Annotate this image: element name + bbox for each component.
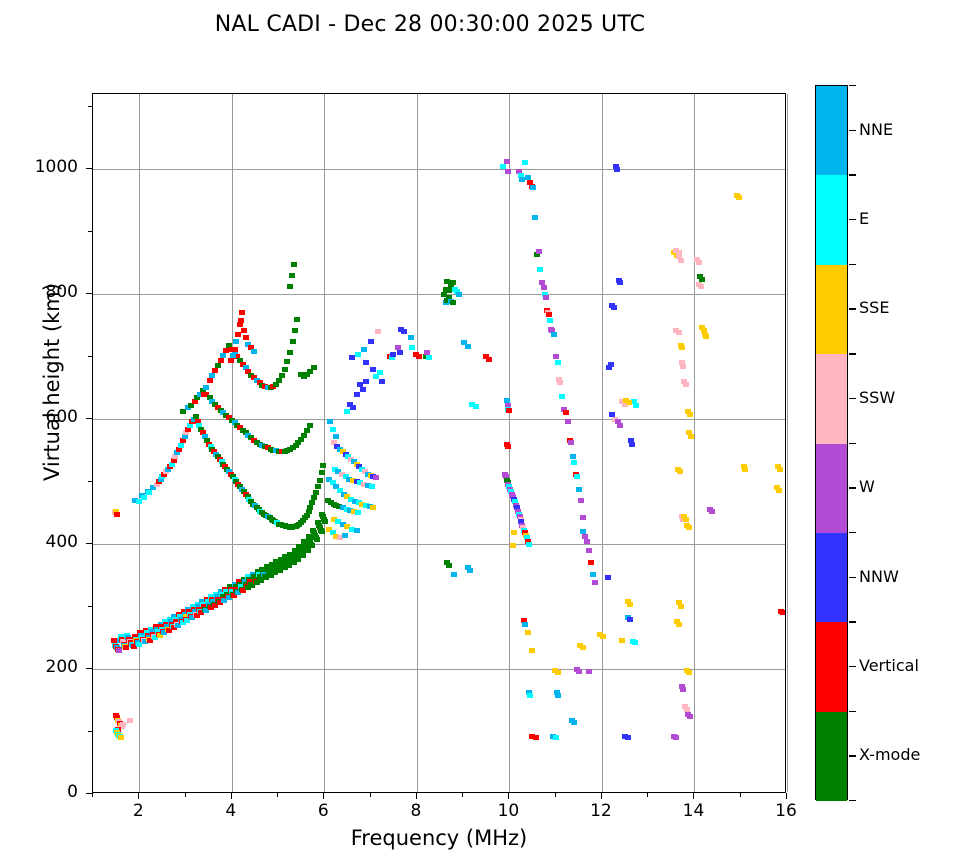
colorbar-boundary-tick (849, 711, 856, 712)
scatter-point (354, 392, 360, 397)
scatter-point (698, 284, 704, 289)
scatter-point (401, 329, 407, 334)
y-tick (86, 418, 92, 419)
scatter-point (687, 714, 693, 719)
scatter-point (537, 267, 543, 272)
colorbar-segment-x-mode (816, 712, 847, 801)
scatter-point (625, 735, 631, 740)
y-tick (86, 293, 92, 294)
scatter-point (344, 409, 350, 414)
colorbar-boundary-tick (849, 174, 856, 175)
scatter-point (456, 292, 462, 297)
colorbar-boundary-tick (849, 85, 856, 86)
scatter-point (565, 419, 571, 424)
scatter-point (532, 215, 538, 220)
scatter-point (228, 358, 234, 363)
scatter-point (390, 352, 396, 357)
scatter-point (600, 634, 606, 639)
scatter-point (314, 537, 320, 542)
scatter-point (201, 392, 207, 397)
scatter-point (555, 693, 561, 698)
colorbar-segment-vertical (816, 622, 847, 711)
scatter-point (220, 353, 226, 358)
ionogram-page: NAL CADI - Dec 28 00:30:00 2025 UTC 2468… (0, 0, 958, 857)
scatter-point (506, 408, 512, 413)
scatter-point (279, 373, 285, 378)
scatter-point (505, 169, 511, 174)
scatter-point (776, 488, 782, 493)
scatter-point (473, 404, 479, 409)
scatter-point (369, 484, 375, 489)
scatter-point (443, 287, 449, 292)
y-tick-label: 0 (0, 782, 78, 802)
scatter-point (696, 260, 702, 265)
scatter-point (686, 670, 692, 675)
scatter-point (307, 423, 313, 428)
scatter-point (363, 360, 369, 365)
scatter-point (511, 530, 517, 535)
colorbar-tick (849, 666, 856, 667)
scatter-point (239, 310, 245, 315)
scatter-point (557, 380, 563, 385)
scatter-point (486, 357, 492, 362)
x-tick (693, 793, 694, 799)
scatter-point (235, 332, 241, 337)
scatter-point (309, 500, 315, 505)
x-tick-minor (555, 793, 556, 797)
scatter-point (576, 669, 582, 674)
colorbar-tick (849, 755, 856, 756)
x-tick-label: 4 (201, 801, 261, 821)
scatter-point (559, 394, 565, 399)
scatter-point (284, 359, 290, 364)
y-tick-minor (88, 231, 92, 232)
scatter-point (146, 490, 152, 495)
x-tick-label: 2 (108, 801, 168, 821)
scatter-point (530, 185, 536, 190)
scatter-point (522, 622, 528, 627)
colorbar-tick (849, 219, 856, 220)
y-tick (86, 543, 92, 544)
scatter-point (319, 529, 325, 534)
scatter-point (241, 328, 247, 333)
scatter-point (207, 378, 213, 383)
scatter-point (555, 670, 561, 675)
scatter-point (373, 475, 379, 480)
y-tick-label: 400 (0, 532, 78, 552)
scatter-point (251, 349, 257, 354)
scatter-point (141, 495, 147, 500)
scatter-point (619, 638, 625, 643)
scatter-point (355, 352, 361, 357)
x-tick-label: 14 (663, 801, 723, 821)
y-tick-minor (88, 356, 92, 357)
y-tick-minor (88, 481, 92, 482)
scatter-point (526, 542, 532, 547)
scatter-point (584, 539, 590, 544)
scatter-point (592, 580, 598, 585)
scatter-point (313, 490, 319, 495)
scatter-point (533, 735, 539, 740)
scatter-point (547, 318, 553, 323)
scatter-point (370, 367, 376, 372)
colorbar-segment-nnw (816, 533, 847, 622)
scatter-point (311, 495, 317, 500)
scatter-point (304, 428, 310, 433)
scatter-point (114, 512, 120, 517)
scatter-point (627, 602, 633, 607)
scatter-point (450, 300, 456, 305)
scatter-point (320, 463, 326, 468)
scatter-point (571, 720, 577, 725)
scatter-point (309, 543, 315, 548)
colorbar-tick (849, 308, 856, 309)
scatter-point (546, 312, 552, 317)
scatter-point (379, 379, 385, 384)
scatter-point (368, 339, 374, 344)
scatter-point (578, 498, 584, 503)
scatter-point (375, 329, 381, 334)
scatter-point (301, 433, 307, 438)
colorbar-label-w: W (859, 477, 875, 496)
scatter-point (243, 335, 249, 340)
scatter-point (510, 543, 516, 548)
scatter-point (580, 645, 586, 650)
x-tick-minor (185, 793, 186, 797)
scatter-point (614, 167, 620, 172)
scatter-point (563, 410, 569, 415)
colorbar-boundary-tick (849, 264, 856, 265)
scatter-point (633, 403, 639, 408)
scatter-point (292, 328, 298, 333)
scatter-point (116, 648, 122, 653)
scatter-point (444, 279, 450, 284)
scatter-point (276, 378, 282, 383)
scatter-point (543, 295, 549, 300)
colorbar-segment-e (816, 175, 847, 264)
scatter-point (282, 367, 288, 372)
scatter-point (354, 528, 360, 533)
scatter-point (333, 434, 339, 439)
scatter-point (441, 292, 447, 297)
x-tick (508, 793, 509, 799)
scatter-point (377, 370, 383, 375)
scatter-point (519, 177, 525, 182)
x-tick (138, 793, 139, 799)
scatter-point (203, 385, 209, 390)
scatter-point (736, 195, 742, 200)
colorbar-tick (849, 130, 856, 131)
colorbar-label-nne: NNE (859, 120, 893, 139)
scatter-point (290, 339, 296, 344)
colorbar-segment-w (816, 444, 847, 533)
scatter-point (742, 467, 748, 472)
scatter-point (232, 347, 238, 352)
scatter-point (536, 249, 542, 254)
x-tick-label: 6 (293, 801, 353, 821)
scatter-point (580, 515, 586, 520)
x-tick-minor (277, 793, 278, 797)
scatter-point (703, 334, 709, 339)
scatter-point (588, 560, 594, 565)
scatter-point (287, 350, 293, 355)
colorbar-boundary-tick (849, 443, 856, 444)
scatter-point (777, 467, 783, 472)
scatter-point (568, 440, 574, 445)
colorbar-title: Azimuth Direction (954, 202, 958, 522)
scatter-point (467, 568, 473, 573)
scatter-point (555, 360, 561, 365)
scatter-point (342, 533, 348, 538)
y-tick-label: 1000 (0, 157, 78, 177)
colorbar-boundary-tick (849, 353, 856, 354)
scatter-point (209, 373, 215, 378)
x-tick (231, 793, 232, 799)
x-tick-minor (740, 793, 741, 797)
scatter-point (127, 718, 133, 723)
scatter-point (307, 505, 313, 510)
scatter-point (446, 563, 452, 568)
scatter-point (397, 350, 403, 355)
x-tick (323, 793, 324, 799)
scatter-point (291, 262, 297, 267)
scatter-point (294, 317, 300, 322)
scatter-point (688, 434, 694, 439)
scatter-point (676, 622, 682, 627)
scatter-point (686, 525, 692, 530)
y-tick-label: 200 (0, 657, 78, 677)
scatter-point (525, 630, 531, 635)
scatter-point (683, 517, 689, 522)
scatter-point (687, 412, 693, 417)
scatter-point (233, 339, 239, 344)
scatter-point (522, 160, 528, 165)
x-tick-minor (92, 793, 93, 797)
scatter-point (683, 382, 689, 387)
colorbar-segment-nne (816, 86, 847, 175)
y-tick (86, 668, 92, 669)
scatter-point (529, 648, 535, 653)
scatter-point (360, 387, 366, 392)
scatter-point (178, 443, 184, 448)
x-axis-title: Frequency (MHz) (92, 826, 786, 850)
scatter-point (551, 332, 557, 337)
scatter-point (504, 159, 510, 164)
colorbar-segment-ssw (816, 354, 847, 443)
x-tick-minor (462, 793, 463, 797)
x-tick (416, 793, 417, 799)
scatter-point (570, 454, 576, 459)
colorbar-label-nnw: NNW (859, 567, 899, 586)
scatter-point (611, 305, 617, 310)
colorbar-label-sse: SSE (859, 298, 889, 317)
scatter-point (370, 505, 376, 510)
x-tick-label: 8 (386, 801, 446, 821)
scatter-point (289, 273, 295, 278)
colorbar-label-vertical: Vertical (859, 656, 919, 675)
scatter-point (212, 368, 218, 373)
scatter-point (287, 284, 293, 289)
colorbar-boundary-tick (849, 621, 856, 622)
x-tick-label: 16 (756, 801, 816, 821)
scatter-point (780, 610, 785, 615)
colorbar-tick (849, 577, 856, 578)
colorbar (815, 85, 848, 800)
scatter-point (680, 364, 686, 369)
scatter-point (576, 487, 582, 492)
scatter-point (319, 470, 325, 475)
scatter-point (553, 735, 559, 740)
colorbar-boundary-tick (849, 800, 856, 801)
scatter-point (363, 379, 369, 384)
y-tick-minor (88, 606, 92, 607)
scatter-point (355, 510, 361, 515)
y-tick-label: 600 (0, 407, 78, 427)
colorbar-label-x-mode: X-mode (859, 745, 920, 764)
scatter-point (677, 469, 683, 474)
scatter-point (626, 400, 632, 405)
scatter-point (678, 258, 684, 263)
x-tick (601, 793, 602, 799)
colorbar-tick (849, 398, 856, 399)
page-title: NAL CADI - Dec 28 00:30:00 2025 UTC (0, 12, 860, 37)
scatter-point (120, 722, 126, 727)
scatter-point (451, 572, 457, 577)
scatter-point (679, 345, 685, 350)
scatter-point (553, 354, 559, 359)
plot-area (92, 93, 786, 793)
scatter-point (350, 405, 356, 410)
scatter-point (680, 687, 686, 692)
scatter-point (315, 484, 321, 489)
x-tick-minor (647, 793, 648, 797)
scatter-point (606, 365, 612, 370)
x-tick-minor (370, 793, 371, 797)
scatter-point (322, 519, 328, 524)
y-tick-minor (88, 106, 92, 107)
scatter-point (617, 280, 623, 285)
scatter-point (571, 460, 577, 465)
scatter-point (409, 345, 415, 350)
scatter-point (300, 553, 306, 558)
scatter-point (317, 478, 323, 483)
y-tick-minor (88, 731, 92, 732)
colorbar-tick (849, 487, 856, 488)
scatter-point (416, 354, 422, 359)
y-axis-title: Virtual height (km) (40, 212, 64, 552)
x-tick (786, 793, 787, 799)
scatter-point (541, 285, 547, 290)
scatter-point (218, 358, 224, 363)
scatter-point (330, 427, 336, 432)
colorbar-label-ssw: SSW (859, 388, 895, 407)
colorbar-segment-sse (816, 265, 847, 354)
scatter-point (574, 474, 580, 479)
scatter-point (505, 444, 511, 449)
scatter-point (676, 330, 682, 335)
x-tick-label: 10 (478, 801, 538, 821)
y-tick (86, 168, 92, 169)
scatter-marks (93, 94, 785, 792)
scatter-point (709, 509, 715, 514)
scatter-point (327, 419, 333, 424)
gridline-vertical (787, 94, 788, 792)
scatter-point (629, 442, 635, 447)
scatter-point (632, 640, 638, 645)
scatter-point (586, 548, 592, 553)
scatter-point (361, 347, 367, 352)
scatter-point (118, 735, 124, 740)
scatter-point (673, 735, 679, 740)
scatter-point (311, 365, 317, 370)
scatter-point (605, 575, 611, 580)
scatter-point (450, 280, 456, 285)
scatter-point (527, 693, 533, 698)
scatter-point (678, 604, 684, 609)
scatter-point (586, 669, 592, 674)
colorbar-boundary-tick (849, 532, 856, 533)
y-tick-label: 800 (0, 282, 78, 302)
colorbar-label-e: E (859, 209, 869, 228)
x-tick-label: 12 (571, 801, 631, 821)
scatter-point (617, 423, 623, 428)
scatter-point (426, 355, 432, 360)
scatter-point (590, 572, 596, 577)
scatter-point (627, 617, 633, 622)
y-tick (86, 793, 92, 794)
scatter-point (215, 363, 221, 368)
scatter-point (305, 548, 311, 553)
scatter-point (465, 344, 471, 349)
scatter-point (408, 335, 414, 340)
scatter-point (237, 322, 243, 327)
